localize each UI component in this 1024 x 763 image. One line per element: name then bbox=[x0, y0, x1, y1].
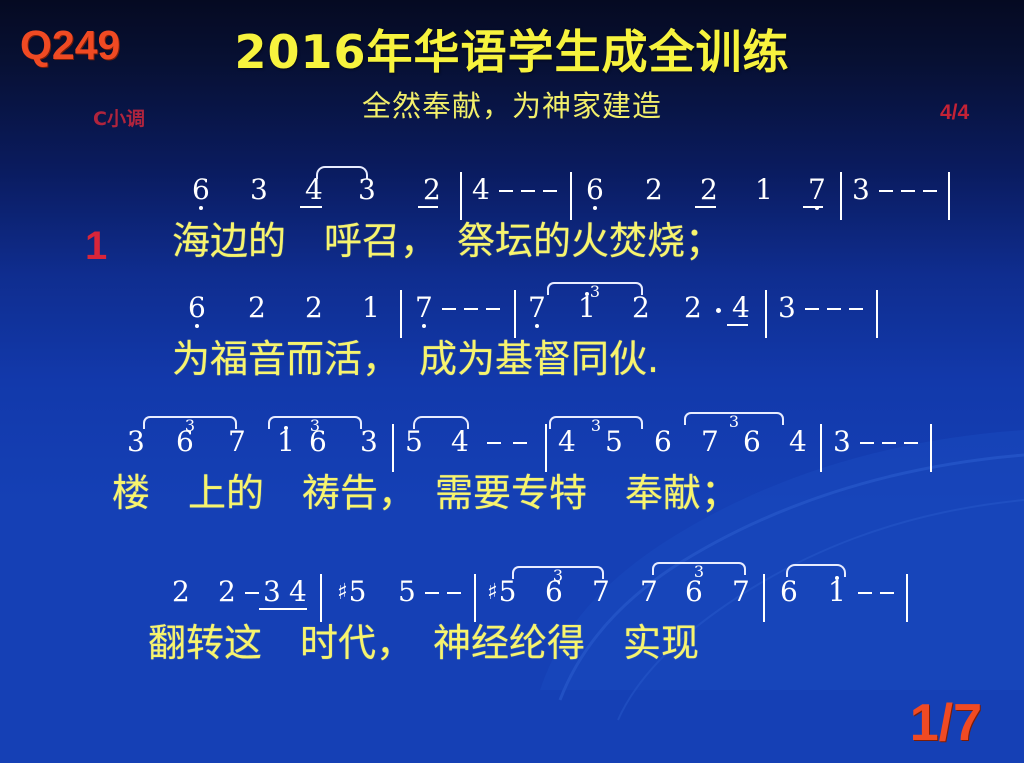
note: 7 bbox=[640, 572, 658, 612]
note: 6 bbox=[192, 170, 210, 210]
beam bbox=[727, 324, 748, 326]
page-title: 2016年华语学生成全训练 bbox=[0, 16, 1024, 82]
lyric-text: 翻转这 时代， 神经纶得 实现 bbox=[148, 618, 699, 668]
barline bbox=[474, 574, 476, 622]
barline bbox=[820, 424, 822, 472]
note: 6 bbox=[586, 170, 604, 210]
beam bbox=[300, 206, 322, 208]
sustain-dash bbox=[513, 442, 527, 444]
triplet-bracket: 3 bbox=[549, 416, 643, 429]
note: 1 bbox=[578, 288, 596, 328]
barline bbox=[400, 290, 402, 338]
note: 6 bbox=[780, 572, 798, 612]
note: 4 bbox=[289, 572, 307, 612]
sustain-dash bbox=[543, 190, 557, 192]
lyric-text: 楼 上的 祷告， 需要专特 奉献； bbox=[112, 468, 739, 518]
sustain-dash bbox=[447, 592, 461, 594]
key-signature: C小调 bbox=[93, 104, 145, 131]
note: 5 bbox=[605, 422, 623, 462]
note: 2 bbox=[305, 288, 323, 328]
note: 7 bbox=[415, 288, 433, 328]
lyric-row-2: 为福音而活， 成为基督同伙. bbox=[0, 334, 1024, 388]
note: 1 bbox=[828, 572, 846, 612]
sustain-dash bbox=[901, 190, 915, 192]
time-signature: 4/4 bbox=[940, 101, 969, 125]
music-line-2: 6 2 2 1 7 7 3 1 2 2 4 3 bbox=[0, 288, 1024, 388]
sustain-dash bbox=[860, 442, 874, 444]
sustain-dash bbox=[486, 308, 500, 310]
sustain-dash bbox=[880, 592, 894, 594]
barline bbox=[392, 424, 394, 472]
music-line-3: 3 3 6 7 1 3 6 3 5 4 4 3 5 6 7 bbox=[0, 422, 1024, 522]
lyric-row-1: 海边的 呼召， 祭坛的火焚烧； bbox=[0, 216, 1024, 270]
note: 6 bbox=[176, 422, 194, 462]
note: 3 bbox=[250, 170, 268, 210]
sustain-dash bbox=[442, 308, 456, 310]
lyric-text: 为福音而活， 成为基督同伙. bbox=[172, 334, 659, 384]
note: 6 bbox=[309, 422, 327, 462]
barline bbox=[876, 290, 878, 338]
note: 2 bbox=[684, 288, 702, 328]
sustain-dash bbox=[827, 308, 841, 310]
barline bbox=[545, 424, 547, 472]
sustain-dash bbox=[499, 190, 513, 192]
beam bbox=[695, 206, 716, 208]
barline bbox=[570, 172, 572, 220]
notation-row-3: 3 3 6 7 1 3 6 3 5 4 4 3 5 6 7 bbox=[0, 422, 1024, 468]
note: 3 bbox=[360, 422, 378, 462]
barline bbox=[763, 574, 765, 622]
note: 6 bbox=[545, 572, 563, 612]
lyric-row-3: 楼 上的 祷告， 需要专特 奉献； bbox=[0, 468, 1024, 522]
barline bbox=[514, 290, 516, 338]
note: 3 bbox=[852, 170, 870, 210]
notation-row-1: 6 3 4 3 2 4 6 2 2 1 7 3 bbox=[0, 170, 1024, 216]
triplet-number: 3 bbox=[588, 403, 604, 449]
note: 7 bbox=[808, 170, 826, 210]
page-subtitle: 全然奉献，为神家建造 bbox=[0, 83, 1024, 125]
barline bbox=[460, 172, 462, 220]
barline bbox=[320, 574, 322, 622]
note: 2 bbox=[172, 572, 190, 612]
note: 7 bbox=[701, 422, 719, 462]
note: 6 bbox=[685, 572, 703, 612]
notation-row-4: 2 2 3 4 5 5 5 3 6 7 7 3 6 7 bbox=[0, 572, 1024, 618]
sustain-dash bbox=[904, 442, 918, 444]
barline bbox=[948, 172, 950, 220]
note: 4 bbox=[472, 170, 490, 210]
sustain-dash bbox=[879, 190, 893, 192]
lyric-row-4: 翻转这 时代， 神经纶得 实现 bbox=[0, 618, 1024, 672]
triplet-bracket: 3 bbox=[684, 412, 784, 425]
barline bbox=[840, 172, 842, 220]
note: 2 bbox=[645, 170, 663, 210]
note: 5 bbox=[338, 572, 366, 615]
barline bbox=[765, 290, 767, 338]
note: 2 bbox=[248, 288, 266, 328]
beam bbox=[803, 206, 823, 208]
note: 1 bbox=[755, 170, 773, 210]
sustain-dash bbox=[923, 190, 937, 192]
lyric-text: 海边的 呼召， 祭坛的火焚烧； bbox=[172, 216, 723, 266]
note: 4 bbox=[789, 422, 807, 462]
note: 3 bbox=[358, 170, 376, 210]
note: 7 bbox=[732, 572, 750, 612]
note: 2 bbox=[632, 288, 650, 328]
music-line-4: 2 2 3 4 5 5 5 3 6 7 7 3 6 7 bbox=[0, 572, 1024, 672]
note: 4 bbox=[451, 422, 469, 462]
sustain-dash bbox=[858, 592, 872, 594]
slide-canvas: Q249 2016年华语学生成全训练 全然奉献，为神家建造 C小调 4/4 1 … bbox=[0, 0, 1024, 763]
note: 7 bbox=[528, 288, 546, 328]
music-line-1: 6 3 4 3 2 4 6 2 2 1 7 3 bbox=[0, 170, 1024, 270]
beam bbox=[418, 206, 438, 208]
page-number: 1/7 bbox=[910, 693, 982, 753]
note: 7 bbox=[592, 572, 610, 612]
notation-row-2: 6 2 2 1 7 7 3 1 2 2 4 3 bbox=[0, 288, 1024, 334]
note: 7 bbox=[228, 422, 246, 462]
sustain-dash bbox=[425, 592, 439, 594]
triplet-number: 3 bbox=[726, 399, 742, 445]
note: 3 bbox=[778, 288, 796, 328]
note: 6 bbox=[188, 288, 206, 328]
barline bbox=[906, 574, 908, 622]
sustain-dash bbox=[521, 190, 535, 192]
sustain-dash bbox=[882, 442, 896, 444]
sustain-dash bbox=[487, 442, 501, 444]
sustain-dash bbox=[849, 308, 863, 310]
beam bbox=[259, 608, 307, 610]
note: 2 bbox=[423, 170, 441, 210]
note: 3 bbox=[263, 572, 281, 612]
note: 5 bbox=[405, 422, 423, 462]
sustain-dash bbox=[245, 592, 259, 594]
note: 4 bbox=[732, 288, 750, 328]
sustain-dash bbox=[464, 308, 478, 310]
note: 6 bbox=[654, 422, 672, 462]
barline bbox=[930, 424, 932, 472]
dotted-duration-dot bbox=[716, 308, 721, 313]
note: 3 bbox=[833, 422, 851, 462]
note: 6 bbox=[743, 422, 761, 462]
note: 5 bbox=[398, 572, 416, 612]
sustain-dash bbox=[805, 308, 819, 310]
note: 1 bbox=[362, 288, 380, 328]
note: 2 bbox=[218, 572, 236, 612]
note: 2 bbox=[700, 170, 718, 210]
